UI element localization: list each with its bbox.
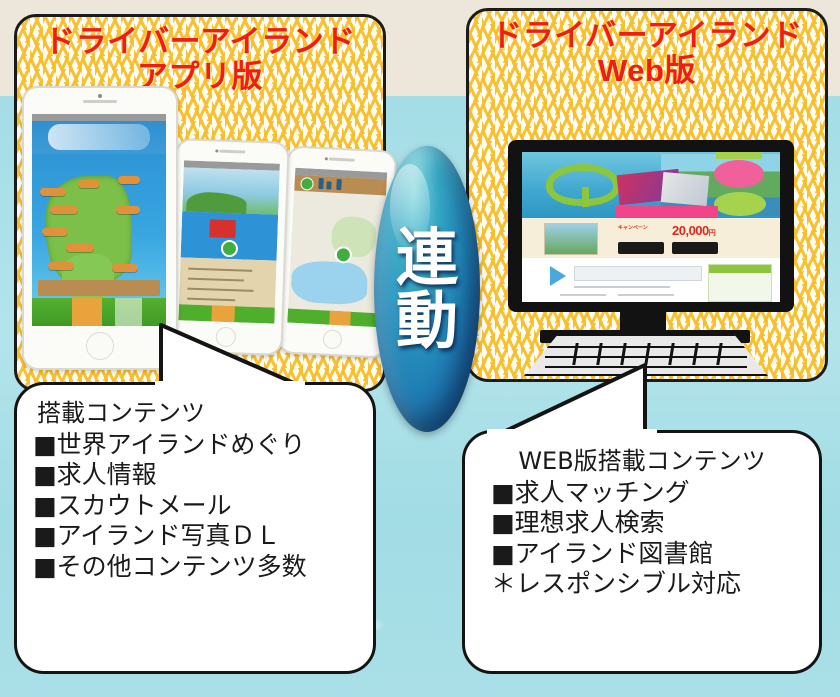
list-item: ＊レスポンシブル対応 [491, 569, 803, 600]
bubble-app-tail [155, 323, 305, 389]
site-text-line [574, 286, 670, 288]
bubble-app-contents: 搭載コンテンツ ■世界アイランドめぐり ■求人情報 ■スカウトメール ■アイラン… [14, 382, 376, 674]
appstore-badge-1[interactable] [618, 242, 664, 254]
list-marker: ■ [33, 552, 57, 581]
phone1-map-pill [78, 180, 100, 188]
campaign-price-unit: 円 [709, 230, 716, 237]
phone1-map-pill [48, 262, 74, 270]
phone1-statusbar [32, 114, 166, 121]
list-marker: ■ [491, 508, 515, 537]
hero-card-image-2 [661, 172, 709, 206]
panel-web-title-line1: ドライバーアイランド [469, 19, 825, 54]
site-search-input[interactable] [574, 266, 702, 281]
panel-app-title: ドライバーアイランド アプリ版 [17, 25, 383, 94]
phone2-form-line [188, 268, 252, 272]
phone2-photo [182, 167, 279, 214]
list-marker: ■ [491, 539, 515, 568]
phone1-camera-icon [98, 94, 102, 98]
website-campaign-band: キャンペーン 20,000円 [522, 218, 780, 258]
phone1-speaker [83, 100, 117, 103]
list-text: アイランド図書館 [515, 539, 714, 568]
phone1-map-pill [118, 176, 140, 184]
bubble-app-list: ■世界アイランドめぐり ■求人情報 ■スカウトメール ■アイランド写真ＤＬ ■そ… [33, 430, 357, 583]
list-text: レスポンシブル対応 [516, 569, 741, 598]
list-item: ■世界アイランドめぐり [33, 430, 357, 461]
campaign-price-value: 20,000 [672, 223, 709, 238]
list-item: ■その他コンテンツ多数 [33, 552, 357, 583]
phone2-form-panel [179, 257, 277, 307]
appstore-badge-2[interactable] [672, 242, 718, 254]
hero-pink-badge[interactable] [714, 160, 764, 188]
list-item: ■アイランド図書館 [491, 539, 803, 570]
phone2-speaker [219, 150, 245, 154]
phone3-camera-icon [325, 157, 328, 160]
phone3-map-water [290, 260, 368, 306]
bubble-web-heading: WEB版搭載コンテンツ [481, 447, 803, 476]
campaign-thumbnail [544, 223, 598, 255]
list-item: ■理想求人検索 [491, 508, 803, 539]
site-sidebar-box [708, 264, 772, 302]
list-marker: ■ [33, 521, 57, 550]
hero-top-nav [716, 152, 762, 159]
list-text: 求人マッチング [515, 478, 690, 507]
phone2-tabbar [178, 304, 274, 323]
bubble-app-body: 搭載コンテンツ ■世界アイランドめぐり ■求人情報 ■スカウトメール ■アイラン… [17, 385, 373, 671]
panel-web-title-line2: Web版 [469, 54, 825, 89]
phone1-home-button [86, 332, 114, 360]
phone1-app-logo [48, 124, 150, 150]
phone3-screen [287, 168, 387, 328]
site-text-line [618, 294, 674, 296]
bubble-web-body: WEB版搭載コンテンツ ■求人マッチング ■理想求人検索 ■アイランド図書館 ＊… [465, 433, 819, 671]
list-item: ■求人情報 [33, 460, 357, 491]
phone3-speaker [329, 157, 355, 161]
phone2-camera-icon [215, 149, 218, 152]
phone1-map-pill [50, 206, 78, 214]
bubble-web-list: ■求人マッチング ■理想求人検索 ■アイランド図書館 ＊レスポンシブル対応 [491, 478, 803, 600]
list-marker: ■ [491, 478, 515, 507]
phone1-map-pill [66, 244, 94, 252]
phone1-map-pill [112, 264, 138, 272]
phone1-tabbar [32, 298, 166, 326]
phone3-marker-icon-2 [326, 181, 331, 189]
list-text: 理想求人検索 [515, 508, 665, 537]
campaign-label: キャンペーン [618, 224, 648, 231]
website-hero-banner [522, 152, 780, 218]
list-text: スカウトメール [57, 491, 232, 520]
phone1-map-pill [42, 228, 68, 236]
panel-web-title: ドライバーアイランド Web版 [469, 19, 825, 88]
phone1-screen [32, 114, 166, 326]
phone1-map-pill [116, 206, 140, 214]
phone1-map-pill [40, 188, 66, 196]
desktop-monitor: キャンペーン 20,000円 [508, 140, 794, 312]
list-marker: ＊ [491, 569, 516, 598]
list-text: 求人情報 [57, 460, 157, 489]
monitor-screen: キャンペーン 20,000円 [522, 152, 780, 302]
phone2-form-line [187, 288, 253, 292]
connector-label: 連動 [374, 226, 480, 352]
bubble-web-contents: WEB版搭載コンテンツ ■求人マッチング ■理想求人検索 ■アイランド図書館 ＊… [462, 430, 822, 674]
hero-cta-bar[interactable] [616, 206, 718, 217]
bubble-app-heading: 搭載コンテンツ [37, 399, 357, 428]
list-text: アイランド写真ＤＬ [57, 521, 281, 550]
phone2-form-line [187, 298, 235, 302]
phone3-home-button [322, 329, 342, 349]
phone1-dock [38, 280, 160, 296]
phone3-marker-icon-1 [318, 178, 324, 189]
phone2-flag-icon [209, 219, 236, 238]
list-item: ■求人マッチング [491, 478, 803, 509]
list-marker: ■ [33, 491, 57, 520]
bubble-web-tail [467, 363, 657, 441]
site-logo-icon [546, 164, 620, 206]
list-text: その他コンテンツ多数 [57, 552, 307, 581]
phone2-form-line [188, 278, 244, 282]
connector-badge: 連動 [374, 146, 480, 432]
infographic-canvas: ドライバーアイランド アプリ版 [0, 0, 840, 697]
panel-app-title-line1: ドライバーアイランド [17, 25, 383, 60]
phone3-marker-icon-3 [336, 179, 342, 190]
hero-green-badge[interactable] [714, 192, 766, 216]
list-item: ■アイランド写真ＤＬ [33, 521, 357, 552]
list-text: 世界アイランドめぐり [57, 430, 306, 459]
list-marker: ■ [33, 460, 57, 489]
website-search-section [522, 258, 780, 302]
campaign-price: 20,000円 [672, 224, 715, 237]
phone2-screen [178, 160, 280, 323]
play-arrow-icon[interactable] [550, 266, 566, 286]
list-item: ■スカウトメール [33, 491, 357, 522]
list-marker: ■ [33, 430, 57, 459]
site-text-line [560, 294, 606, 296]
